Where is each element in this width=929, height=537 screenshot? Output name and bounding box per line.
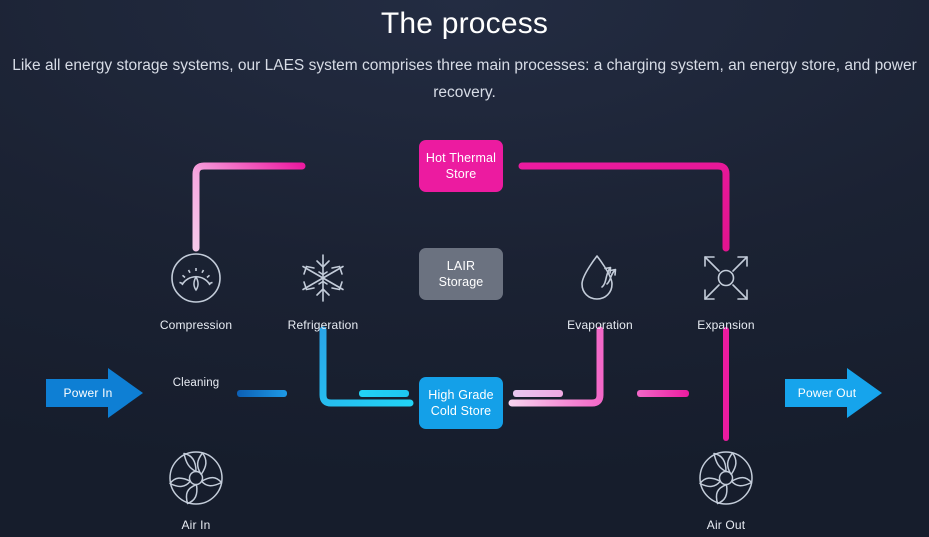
lair-storage-label-2: Storage	[439, 275, 484, 289]
node-expansion[interactable]: Expansion	[671, 247, 781, 332]
high-grade-cold-store-label-1: High Grade	[428, 388, 493, 402]
snowflake-icon	[268, 247, 378, 309]
node-refrigeration[interactable]: Refrigeration	[268, 247, 378, 332]
hot-thermal-store-label-1: Hot Thermal	[426, 151, 496, 165]
process-diagram: Power In Power Out Hot Thermal Store LAI…	[0, 118, 929, 537]
segment-compression-to-refrigeration	[237, 390, 287, 397]
high-grade-cold-store-box[interactable]: High Grade Cold Store	[419, 377, 503, 429]
hot-thermal-store-label-2: Store	[446, 167, 477, 181]
node-expansion-label: Expansion	[671, 318, 781, 332]
node-compression[interactable]: Compression	[141, 247, 251, 332]
path-compression-to-hot-store	[196, 166, 302, 248]
hot-thermal-store-box[interactable]: Hot Thermal Store	[419, 140, 503, 192]
node-air-out-label: Air Out	[671, 518, 781, 532]
node-refrigeration-label: Refrigeration	[268, 318, 378, 332]
power-in-label: Power In	[46, 367, 144, 419]
water-droplet-icon	[545, 247, 655, 309]
node-evaporation[interactable]: Evaporation	[545, 247, 655, 332]
cleaning-label: Cleaning	[141, 377, 251, 389]
fan-icon	[671, 447, 781, 509]
node-air-in-label: Air In	[141, 518, 251, 532]
node-air-in[interactable]: Air In	[141, 447, 251, 532]
page-subtitle: Like all energy storage systems, our LAE…	[10, 52, 920, 106]
segment-lair-to-evaporation	[513, 390, 563, 397]
segment-evaporation-to-expansion	[637, 390, 689, 397]
power-in-arrow[interactable]: Power In	[46, 367, 144, 419]
lair-storage-label-1: LAIR	[447, 259, 475, 273]
gauge-icon	[141, 247, 251, 309]
power-out-label: Power Out	[785, 367, 883, 419]
page-title: The process	[0, 2, 929, 46]
power-out-arrow[interactable]: Power Out	[785, 367, 883, 419]
path-hot-store-to-expansion	[522, 166, 726, 248]
segment-refrigeration-to-lair	[359, 390, 409, 397]
page-header: The process Like all energy storage syst…	[0, 0, 929, 106]
node-evaporation-label: Evaporation	[545, 318, 655, 332]
node-compression-label: Compression	[141, 318, 251, 332]
fan-icon	[141, 447, 251, 509]
expand-arrows-icon	[671, 247, 781, 309]
high-grade-cold-store-label-2: Cold Store	[431, 404, 492, 418]
node-air-out[interactable]: Air Out	[671, 447, 781, 532]
lair-storage-box[interactable]: LAIR Storage	[419, 248, 503, 300]
